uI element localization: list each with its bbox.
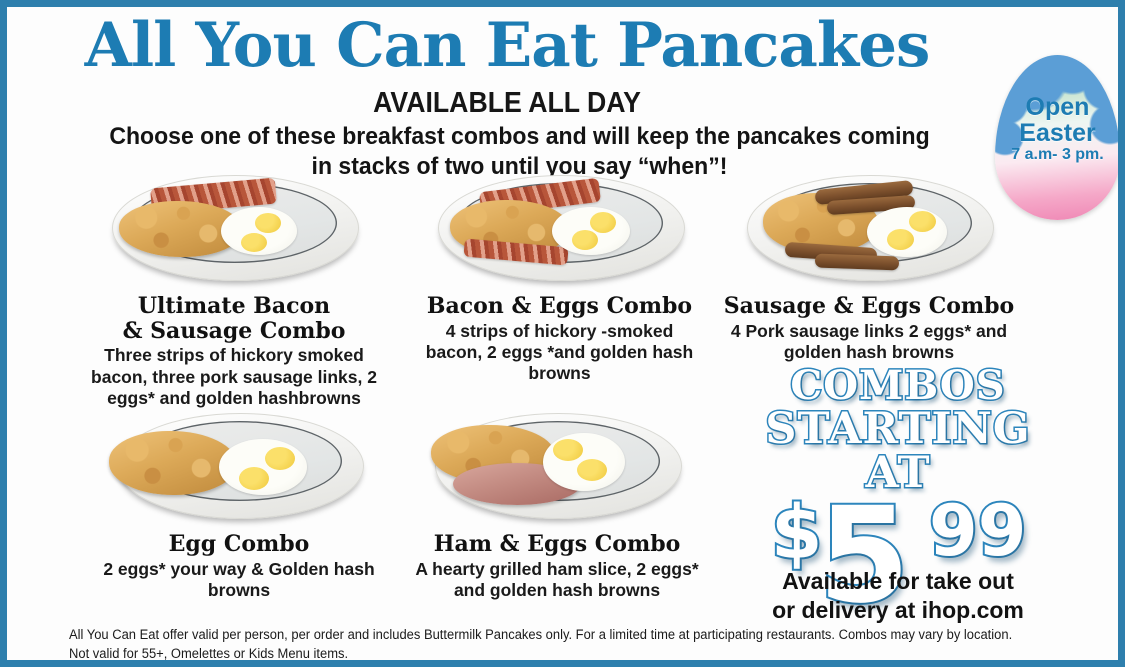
fine-print-disclaimer: All You Can Eat offer valid per person, … — [69, 625, 1029, 663]
sausage-link-icon — [815, 254, 899, 271]
subtitle-available-all-day: AVAILABLE ALL DAY — [47, 87, 967, 120]
yolk-icon — [553, 439, 583, 461]
combo-description: A hearty grilled ham slice, 2 eggs* and … — [397, 559, 717, 602]
combo-card-sausage-eggs: Sausage & Eggs Combo 4 Pork sausage link… — [719, 167, 1019, 363]
combo-description: Three strips of hickory smoked bacon, th… — [69, 345, 399, 409]
plate-image-ham-eggs — [397, 405, 717, 530]
advertisement-flyer: All You Can Eat Pancakes AVAILABLE ALL D… — [0, 0, 1125, 667]
combo-card-egg: Egg Combo 2 eggs* your way & Golden hash… — [79, 405, 399, 601]
hashbrowns-icon — [109, 431, 237, 495]
plate-image-egg-combo — [79, 405, 399, 530]
yolk-icon — [241, 233, 267, 252]
plate-image-ultimate-bacon-sausage — [69, 167, 399, 292]
yolk-icon — [577, 459, 607, 481]
easter-badge-hours: 7 a.m- 3 pm. — [995, 147, 1120, 163]
yolk-icon — [255, 213, 281, 233]
yolk-icon — [887, 229, 914, 250]
availability-note: Available for take out or delivery at ih… — [733, 567, 1063, 625]
availability-line-1: Available for take out — [782, 568, 1014, 594]
combo-title: Bacon & Eggs Combo — [402, 294, 717, 319]
promo-line-combos: COMBOS — [733, 365, 1063, 407]
combo-card-ultimate-bacon-sausage: Ultimate Bacon & Sausage Combo Three str… — [69, 167, 399, 409]
combo-card-bacon-eggs: Bacon & Eggs Combo 4 strips of hickory -… — [402, 167, 717, 385]
price-cents: 99 — [929, 496, 1026, 566]
easter-badge-line-2: Easter — [995, 121, 1120, 147]
yolk-icon — [572, 230, 598, 250]
combo-title: Ultimate Bacon & Sausage Combo — [69, 294, 399, 343]
easter-badge-line-1: Open — [995, 95, 1120, 121]
easter-badge-text: Open Easter 7 a.m- 3 pm. — [995, 95, 1120, 163]
plate-image-sausage-eggs — [719, 167, 1019, 292]
combo-title: Sausage & Eggs Combo — [719, 294, 1019, 319]
combo-description: 4 Pork sausage links 2 eggs* and golden … — [719, 321, 1019, 364]
flyer-canvas: All You Can Eat Pancakes AVAILABLE ALL D… — [7, 7, 1118, 660]
combo-title: Ham & Eggs Combo — [397, 532, 717, 557]
availability-line-2: or delivery at ihop.com — [772, 597, 1024, 623]
combo-description: 2 eggs* your way & Golden hash browns — [79, 559, 399, 602]
currency-symbol: $ — [771, 496, 823, 570]
yolk-icon — [590, 212, 616, 233]
yolk-icon — [265, 447, 295, 470]
combo-card-ham-eggs: Ham & Eggs Combo A hearty grilled ham sl… — [397, 405, 717, 601]
page-title: All You Can Eat Pancakes — [7, 15, 1007, 76]
plate-image-bacon-eggs — [402, 167, 717, 292]
promo-blurb-line-1: Choose one of these breakfast combos and… — [109, 123, 929, 150]
combo-title-line-1: Ultimate Bacon — [138, 293, 330, 319]
yolk-icon — [909, 211, 936, 232]
yolk-icon — [239, 467, 269, 490]
combo-title-line-2: & Sausage Combo — [123, 318, 346, 344]
combo-description: 4 strips of hickory -smoked bacon, 2 egg… — [402, 321, 717, 385]
combo-title: Egg Combo — [79, 532, 399, 557]
